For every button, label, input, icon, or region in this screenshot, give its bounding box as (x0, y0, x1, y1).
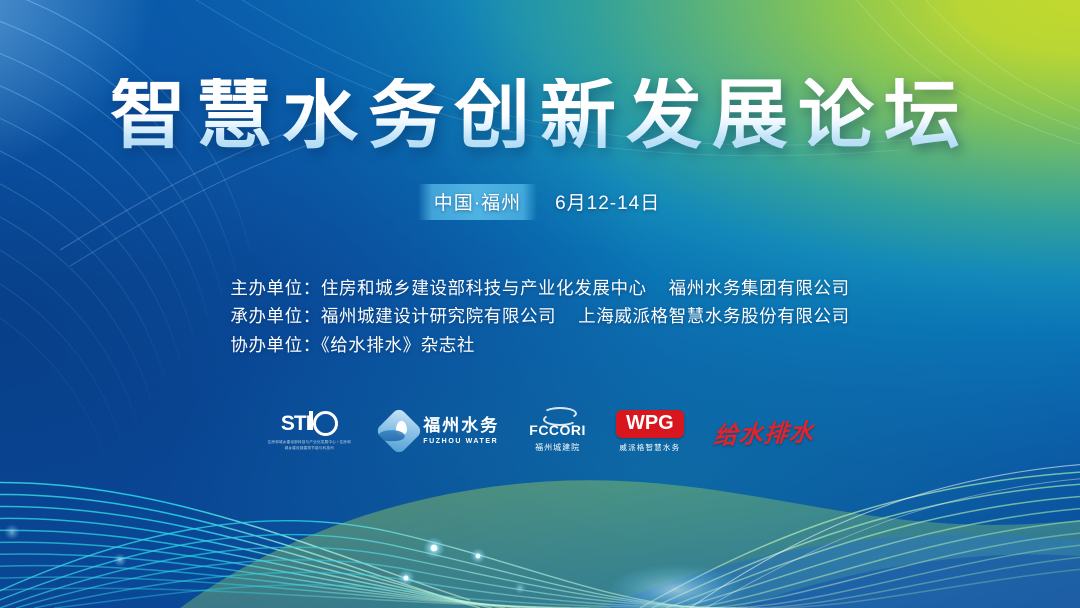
vignette-overlay (0, 0, 1080, 608)
conference-poster: 智慧水务创新发展论坛 中国·福州 6月12-14日 主办单位：住房和城乡建设部科… (0, 0, 1080, 608)
